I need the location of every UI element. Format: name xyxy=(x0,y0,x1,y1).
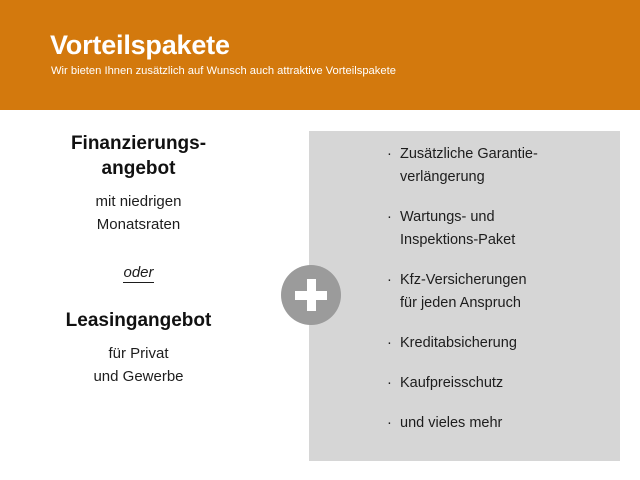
leasing-subtext-line2: und Gewerbe xyxy=(93,368,183,385)
leasing-subtext-line1: für Privat xyxy=(108,345,168,362)
offers-column: Finanzierungs- angebot mit niedrigen Mon… xyxy=(16,131,261,388)
bullet-icon: · xyxy=(387,143,392,166)
list-item: · Wartungs- und Inspektions-Paket xyxy=(387,206,612,252)
bullet-icon: · xyxy=(387,412,392,435)
benefits-panel: · Zusätzliche Garantie- verlängerung · W… xyxy=(309,131,620,461)
list-item-line1: Kreditabsicherung xyxy=(400,335,517,351)
list-item: · Kfz-Versicherungen für jeden Anspruch xyxy=(387,269,612,315)
financing-offer-block: Finanzierungs- angebot mit niedrigen Mon… xyxy=(16,131,261,236)
list-item-line1: Kaufpreisschutz xyxy=(400,375,503,391)
leasing-offer-block: Leasingangebot für Privat und Gewerbe xyxy=(16,308,261,388)
bullet-icon: · xyxy=(387,332,392,355)
list-item-line2: für jeden Anspruch xyxy=(400,295,521,311)
bullet-icon: · xyxy=(387,206,392,229)
list-item: · Zusätzliche Garantie- verlängerung xyxy=(387,143,612,189)
bullet-icon: · xyxy=(387,372,392,395)
list-item-line1: Kfz-Versicherungen xyxy=(400,272,527,288)
plus-icon xyxy=(281,265,341,325)
plus-icon-vertical-bar xyxy=(307,279,316,311)
list-item-line1: Wartungs- und xyxy=(400,209,495,225)
benefits-list: · Zusätzliche Garantie- verlängerung · W… xyxy=(387,143,612,435)
list-item-line2: verlängerung xyxy=(400,169,485,185)
list-item-line1: Zusätzliche Garantie- xyxy=(400,146,538,162)
bullet-icon: · xyxy=(387,269,392,292)
header-band: Vorteilspakete Wir bieten Ihnen zusätzli… xyxy=(0,0,640,110)
slide-root: Vorteilspakete Wir bieten Ihnen zusätzli… xyxy=(0,0,640,480)
offers-divider: oder xyxy=(16,262,261,284)
leasing-heading: Leasingangebot xyxy=(16,308,261,333)
page-subtitle: Wir bieten Ihnen zusätzlich auf Wunsch a… xyxy=(51,64,396,79)
list-item: · Kaufpreisschutz xyxy=(387,372,612,395)
offers-divider-label: oder xyxy=(123,264,153,283)
list-item-line2: Inspektions-Paket xyxy=(400,232,515,248)
list-item-line1: und vieles mehr xyxy=(400,415,502,431)
financing-subtext-line1: mit niedrigen xyxy=(96,193,182,210)
financing-heading-line2: angebot xyxy=(102,158,176,179)
list-item: · und vieles mehr xyxy=(387,412,612,435)
leasing-subtext: für Privat und Gewerbe xyxy=(16,342,261,388)
financing-subtext-line2: Monatsraten xyxy=(97,216,180,233)
list-item: · Kreditabsicherung xyxy=(387,332,612,355)
financing-subtext: mit niedrigen Monatsraten xyxy=(16,190,261,236)
page-title: Vorteilspakete xyxy=(50,29,230,61)
financing-heading: Finanzierungs- angebot xyxy=(16,131,261,181)
financing-heading-line1: Finanzierungs- xyxy=(71,133,206,154)
